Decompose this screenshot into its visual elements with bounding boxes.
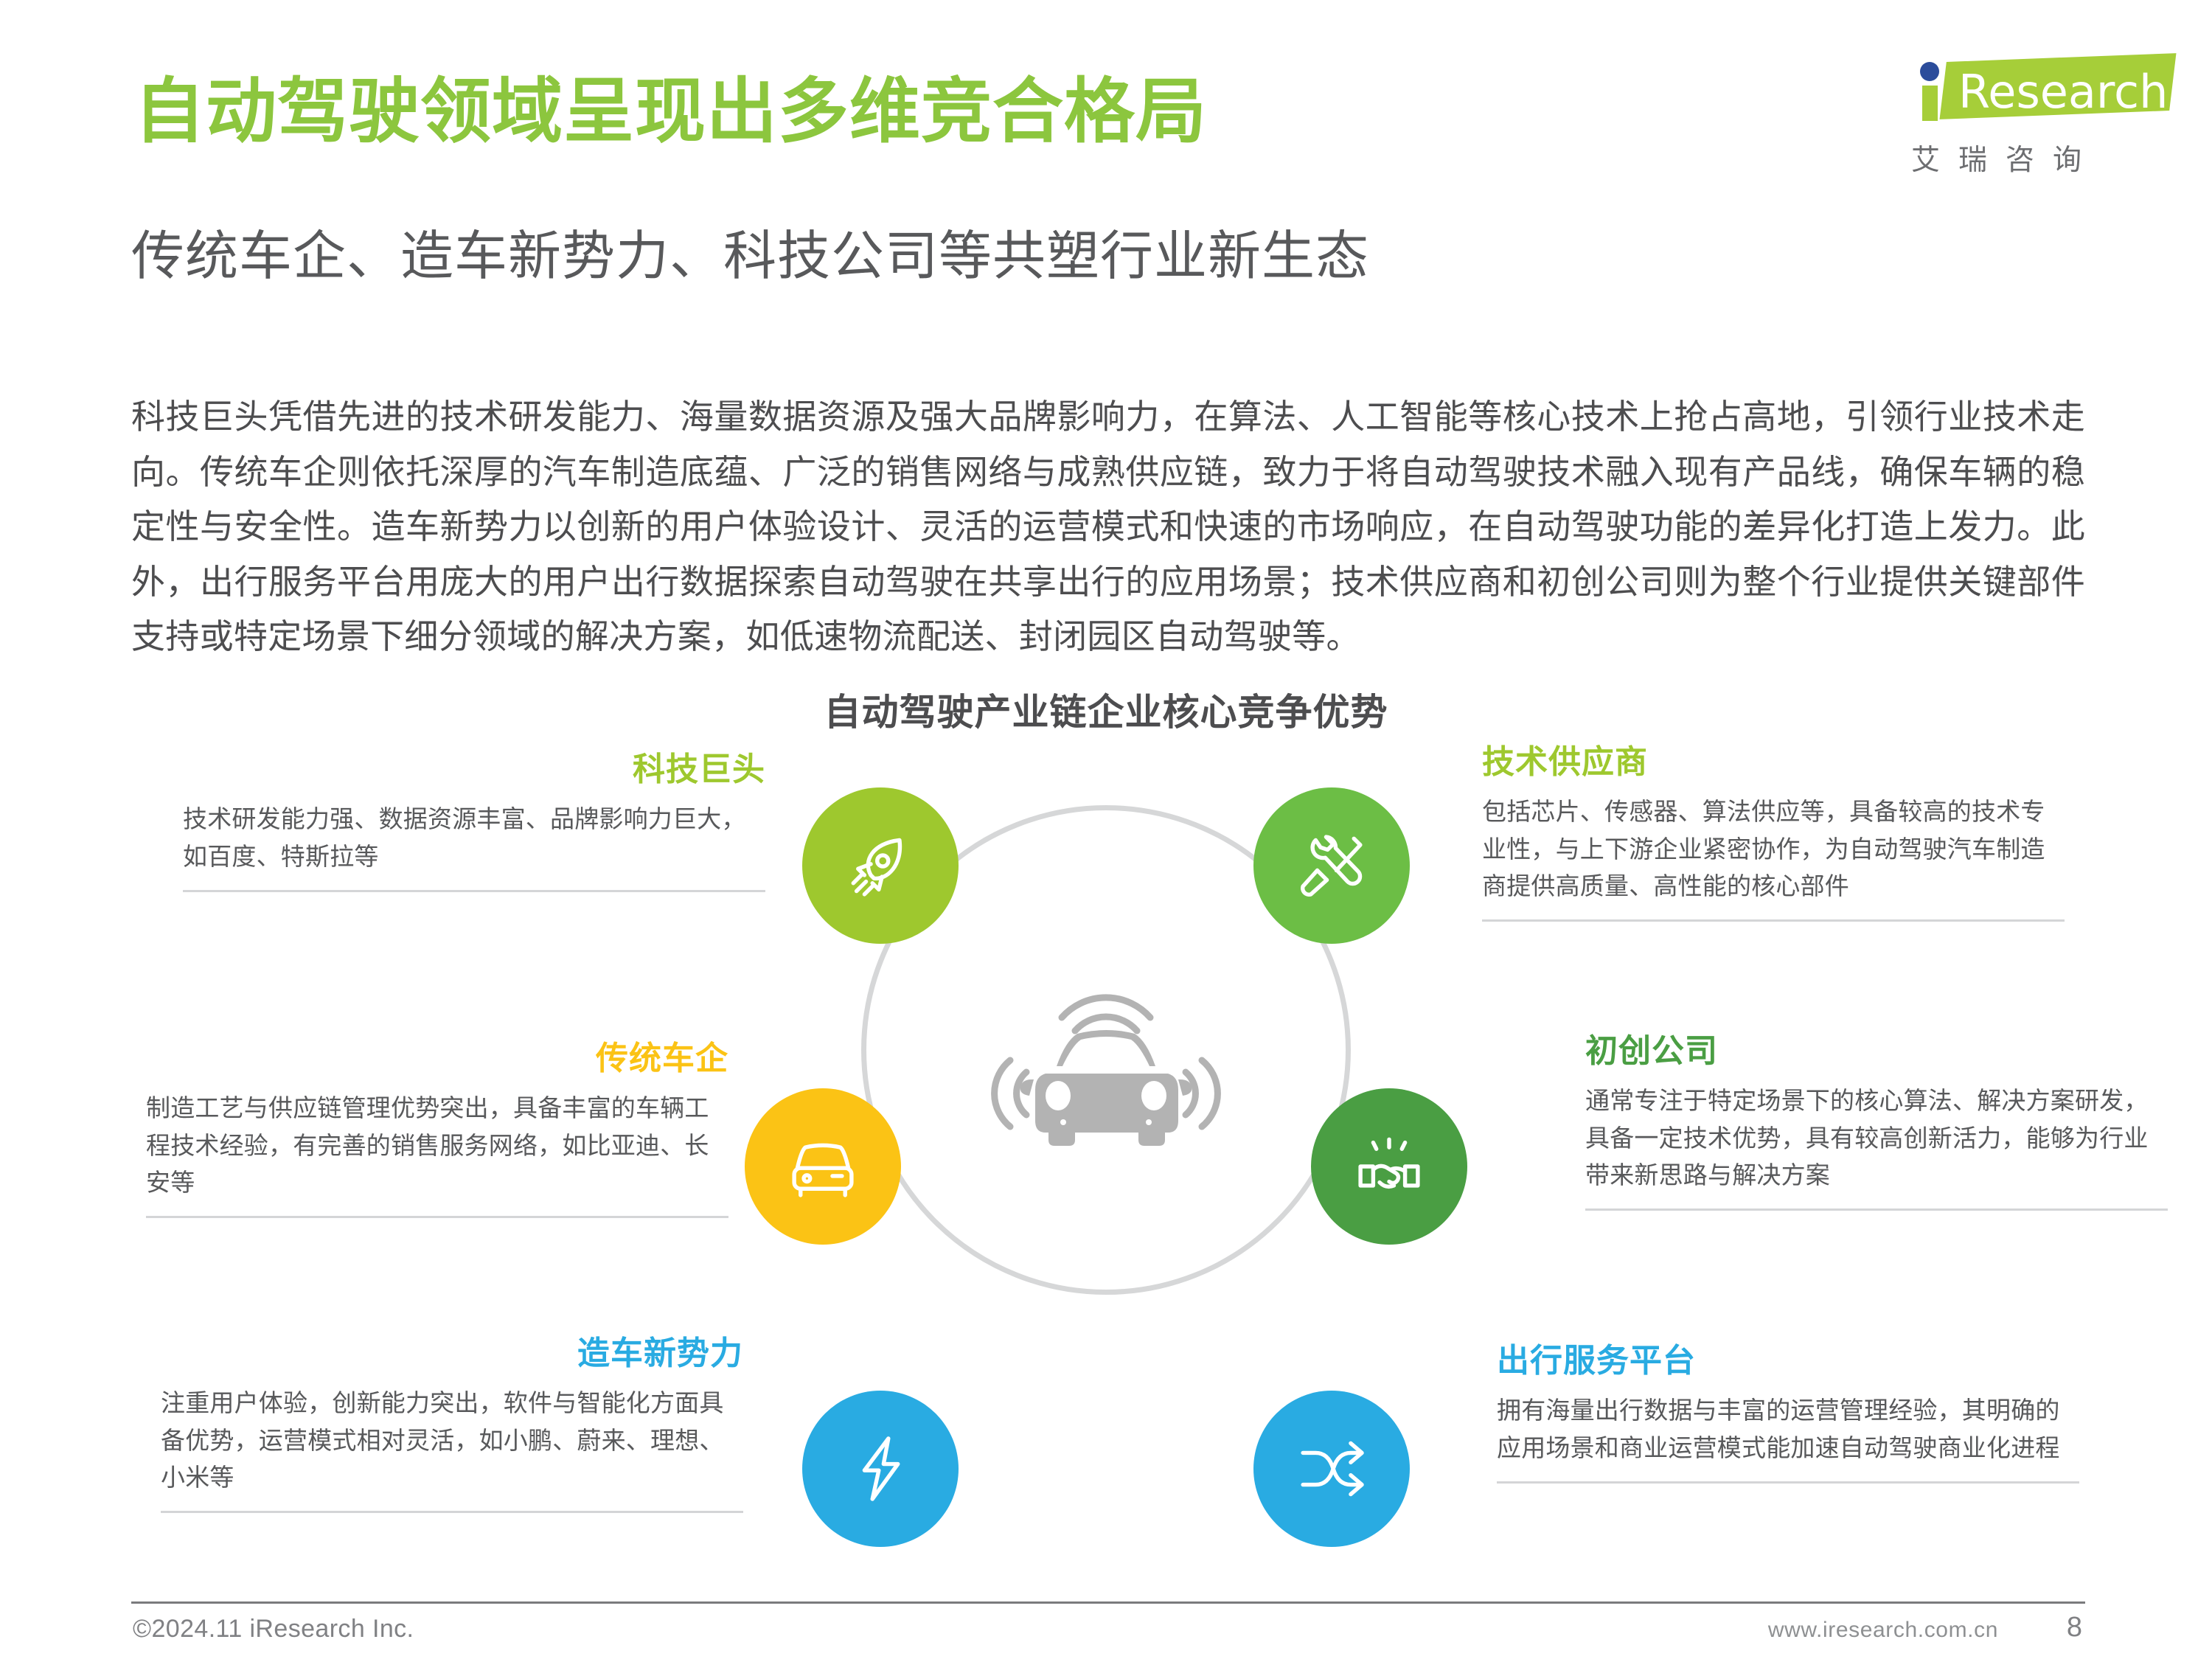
info-desc-technology-supplier: 包括芯片、传感器、算法供应等，具备较高的技术专业性，与上下游企业紧密协作，为自动…: [1482, 793, 2065, 904]
iresearch-logo: Research 艾瑞咨询: [1905, 46, 2193, 186]
info-divider: [146, 1216, 728, 1218]
logo-mark: Research: [1905, 46, 2178, 134]
tools-icon: [1292, 826, 1371, 905]
info-divider: [1497, 1481, 2079, 1484]
rocket-icon: [841, 826, 920, 905]
logo-wordmark: Research: [1958, 65, 2168, 119]
handshake-idea-icon: [1349, 1127, 1429, 1206]
page-number: 8: [2067, 1612, 2082, 1644]
car-icon: [783, 1127, 863, 1206]
info-title-traditional-oem: 传统车企: [146, 1041, 728, 1077]
info-divider: [161, 1511, 743, 1513]
info-block-tech-giant: 科技巨头 技术研发能力强、数据资源丰富、品牌影响力巨大，如百度、特斯拉等: [183, 752, 765, 892]
info-block-new-force: 造车新势力 注重用户体验，创新能力突出，软件与智能化方面具备优势，运营模式相对灵…: [161, 1336, 743, 1513]
node-startup-company[interactable]: [1311, 1088, 1467, 1245]
info-desc-startup-company: 通常专注于特定场景下的核心算法、解决方案研发，具备一定技术优势，具有较高创新活力…: [1585, 1082, 2168, 1193]
logo-i-dot-icon: [1920, 62, 1939, 81]
page-header: 自动驾驶领域呈现出多维竞合格局 传统车企、造车新势力、科技公司等共塑行业新生态 …: [0, 0, 2212, 347]
node-mobility-platform[interactable]: [1253, 1391, 1410, 1547]
info-block-startup-company: 初创公司 通常专注于特定场景下的核心算法、解决方案研发，具备一定技术优势，具有较…: [1585, 1034, 2168, 1211]
diagram-title: 自动驾驶产业链企业核心竞争优势: [0, 683, 2212, 736]
footer-website: www.iresearch.com.cn: [1768, 1618, 1998, 1643]
node-technology-supplier[interactable]: [1253, 787, 1410, 944]
shuffle-arrows-icon: [1292, 1429, 1371, 1509]
info-divider: [1482, 919, 2065, 922]
info-title-startup-company: 初创公司: [1585, 1034, 2168, 1069]
node-traditional-oem[interactable]: [745, 1088, 901, 1245]
info-block-traditional-oem: 传统车企 制造工艺与供应链管理优势突出，具备丰富的车辆工程技术经验，有完善的销售…: [146, 1041, 728, 1218]
info-title-mobility-platform: 出行服务平台: [1497, 1343, 2079, 1379]
info-title-tech-giant: 科技巨头: [183, 752, 765, 787]
info-title-new-force: 造车新势力: [161, 1336, 743, 1371]
intro-paragraph: 科技巨头凭借先进的技术研发能力、海量数据资源及强大品牌影响力，在算法、人工智能等…: [131, 389, 2085, 664]
logo-chinese-name: 艾瑞咨询: [1911, 137, 2177, 178]
info-divider: [1585, 1208, 2168, 1211]
page-title: 自动驾驶领域呈现出多维竞合格局: [134, 74, 1207, 150]
node-tech-giant[interactable]: [802, 787, 959, 944]
info-desc-mobility-platform: 拥有海量出行数据与丰富的运营管理经验，其明确的应用场景和商业运营模式能加速自动驾…: [1497, 1392, 2079, 1466]
node-new-force[interactable]: [802, 1391, 959, 1547]
page-subtitle: 传统车企、造车新势力、科技公司等共塑行业新生态: [131, 229, 1369, 286]
lightning-bolt-icon: [841, 1429, 920, 1509]
logo-i-stem-icon: [1922, 86, 1938, 121]
info-divider: [183, 890, 765, 892]
footer-divider: [131, 1601, 2085, 1604]
info-title-technology-supplier: 技术供应商: [1482, 745, 2065, 780]
info-desc-new-force: 注重用户体验，创新能力突出，软件与智能化方面具备优势，运营模式相对灵活，如小鹏、…: [161, 1385, 743, 1495]
info-desc-traditional-oem: 制造工艺与供应链管理优势突出，具备丰富的车辆工程技术经验，有完善的销售服务网络，…: [146, 1090, 728, 1200]
info-block-mobility-platform: 出行服务平台 拥有海量出行数据与丰富的运营管理经验，其明确的应用场景和商业运营模…: [1497, 1343, 2079, 1484]
footer-copyright: ©2024.11 iResearch Inc.: [133, 1615, 414, 1644]
info-block-technology-supplier: 技术供应商 包括芯片、传感器、算法供应等，具备较高的技术专业性，与上下游企业紧密…: [1482, 745, 2065, 922]
self-driving-car-icon: [959, 922, 1253, 1172]
info-desc-tech-giant: 技术研发能力强、数据资源丰富、品牌影响力巨大，如百度、特斯拉等: [183, 801, 765, 874]
